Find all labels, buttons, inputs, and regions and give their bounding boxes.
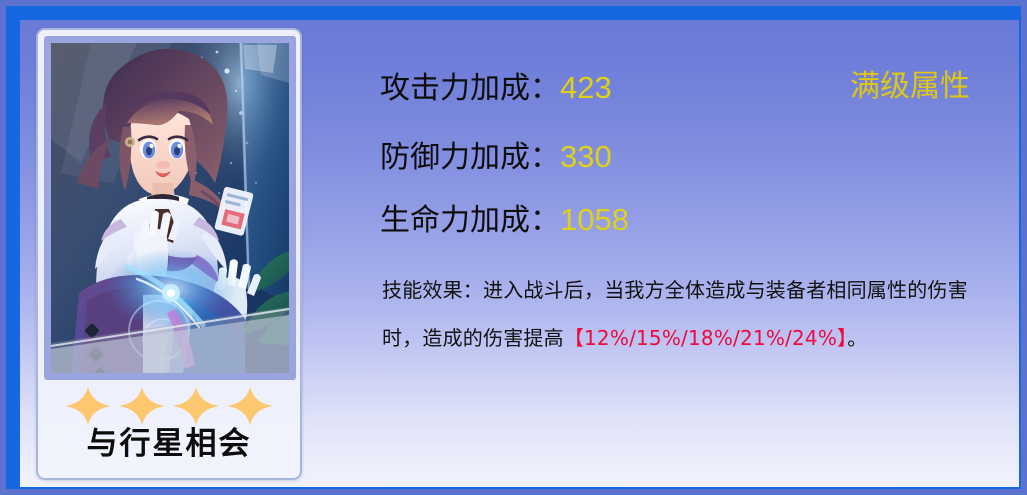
stat-row-hp: 生命力加成：1058	[380, 204, 629, 236]
star-icon	[62, 384, 114, 428]
stat-value-attack: 423	[560, 70, 612, 105]
equipment-card[interactable]: 与行星相会	[36, 28, 302, 480]
stat-value-hp: 1058	[560, 202, 629, 237]
content-panel: 与行星相会 攻击力加成：423 防御力加成：330 生命力加成：1058 满级属…	[20, 20, 1019, 487]
stat-label-attack: 攻击力加成：	[380, 71, 560, 106]
max-level-badge: 满级属性	[850, 72, 970, 102]
stat-value-defense: 330	[560, 139, 612, 174]
app-root: 与行星相会 攻击力加成：423 防御力加成：330 生命力加成：1058 满级属…	[0, 0, 1027, 495]
star-icon	[170, 384, 222, 428]
detail-pane: 攻击力加成：423 防御力加成：330 生命力加成：1058 满级属性 技能效果…	[350, 20, 1010, 487]
rarity-stars	[44, 384, 294, 428]
stat-row-attack: 攻击力加成：423	[380, 72, 612, 104]
star-icon	[224, 384, 276, 428]
star-icon	[116, 384, 168, 428]
card-art-frame	[44, 36, 296, 380]
stat-label-hp: 生命力加成：	[380, 203, 560, 238]
stat-label-defense: 防御力加成：	[380, 140, 560, 175]
card-artwork	[51, 43, 289, 373]
window-frame: 与行星相会 攻击力加成：423 防御力加成：330 生命力加成：1058 满级属…	[6, 6, 1021, 489]
stat-row-defense: 防御力加成：330	[380, 141, 612, 173]
card-name: 与行星相会	[44, 429, 294, 460]
skill-value-highlight: 【12%/15%/18%/21%/24%】	[564, 326, 847, 350]
skill-description: 技能效果：进入战斗后，当我方全体造成与装备者相同属性的伤害时，造成的伤害提高【1…	[382, 266, 1002, 362]
skill-text-suffix: 。	[847, 326, 867, 350]
